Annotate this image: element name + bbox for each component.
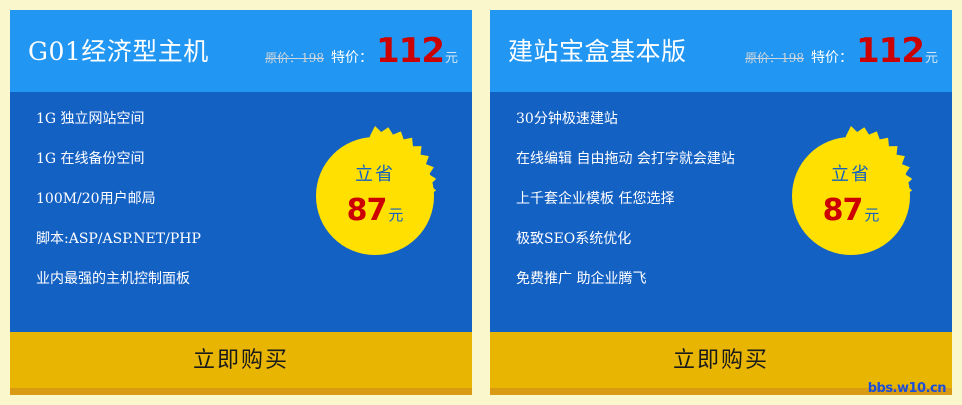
pricing-panel-jianzhan-baohe-basic: 建站宝盒基本版 原价：198 特价： 112 元 30分钟极速建站 在线编辑 自…	[490, 10, 952, 395]
savings-starburst-badge: 立省 87 元	[781, 126, 921, 266]
panel-body: 30分钟极速建站 在线编辑 自由拖动 会打字就会建站 上千套企业模板 任您选择 …	[490, 92, 952, 332]
sale-price-label: 特价：	[331, 47, 373, 67]
sale-price-unit: 元	[445, 47, 458, 66]
pricing-panel-g01-economy-host: G01经济型主机 原价：198 特价： 112 元 1G 独立网站空间 1G 在…	[10, 10, 472, 395]
badge-save-amount: 87	[347, 196, 387, 226]
badge-save-unit: 元	[388, 204, 403, 225]
list-item: 免费推广 助企业腾飞	[516, 272, 735, 286]
feature-list: 1G 独立网站空间 1G 在线备份空间 100M/20用户邮局 脚本:ASP/A…	[36, 112, 201, 312]
list-item: 1G 独立网站空间	[36, 112, 201, 126]
original-price: 原价：198	[265, 49, 324, 66]
list-item: 在线编辑 自由拖动 会打字就会建站	[516, 152, 735, 166]
list-item: 100M/20用户邮局	[36, 192, 201, 206]
badge-amount-row: 87 元	[347, 196, 404, 226]
sale-price-amount: 112	[856, 34, 924, 68]
list-item: 上千套企业模板 任您选择	[516, 192, 735, 206]
feature-list: 30分钟极速建站 在线编辑 自由拖动 会打字就会建站 上千套企业模板 任您选择 …	[516, 112, 735, 312]
badge-text-group: 立省 87 元	[781, 126, 921, 266]
buy-now-label: 立即购买	[193, 342, 289, 374]
panel-header: G01经济型主机 原价：198 特价： 112 元	[10, 10, 472, 92]
badge-save-amount: 87	[823, 196, 863, 226]
badge-amount-row: 87 元	[823, 196, 880, 226]
buy-now-button[interactable]: 立即购买	[10, 332, 472, 395]
badge-save-label: 立省	[355, 166, 395, 184]
list-item: 业内最强的主机控制面板	[36, 272, 201, 286]
original-price: 原价：198	[745, 49, 804, 66]
panel-header: 建站宝盒基本版 原价：198 特价： 112 元	[490, 10, 952, 92]
badge-save-label: 立省	[831, 166, 871, 184]
badge-save-unit: 元	[864, 204, 879, 225]
list-item: 极致SEO系统优化	[516, 232, 735, 246]
price-block: 原价：198 特价： 112 元	[745, 34, 938, 68]
buy-now-label: 立即购买	[673, 342, 769, 374]
savings-starburst-badge: 立省 87 元	[305, 126, 445, 266]
list-item: 脚本:ASP/ASP.NET/PHP	[36, 232, 201, 246]
site-watermark: bbs.w10.cn	[868, 381, 946, 396]
list-item: 30分钟极速建站	[516, 112, 735, 126]
badge-text-group: 立省 87 元	[305, 126, 445, 266]
panel-body: 1G 独立网站空间 1G 在线备份空间 100M/20用户邮局 脚本:ASP/A…	[10, 92, 472, 332]
panel-title: G01经济型主机	[28, 39, 209, 64]
price-block: 原价：198 特价： 112 元	[265, 34, 458, 68]
sale-price-amount: 112	[376, 34, 444, 68]
list-item: 1G 在线备份空间	[36, 152, 201, 166]
sale-price-label: 特价：	[811, 47, 853, 67]
panel-title: 建站宝盒基本版	[508, 39, 687, 64]
pricing-panels-stage: G01经济型主机 原价：198 特价： 112 元 1G 独立网站空间 1G 在…	[0, 0, 962, 405]
sale-price-unit: 元	[925, 47, 938, 66]
